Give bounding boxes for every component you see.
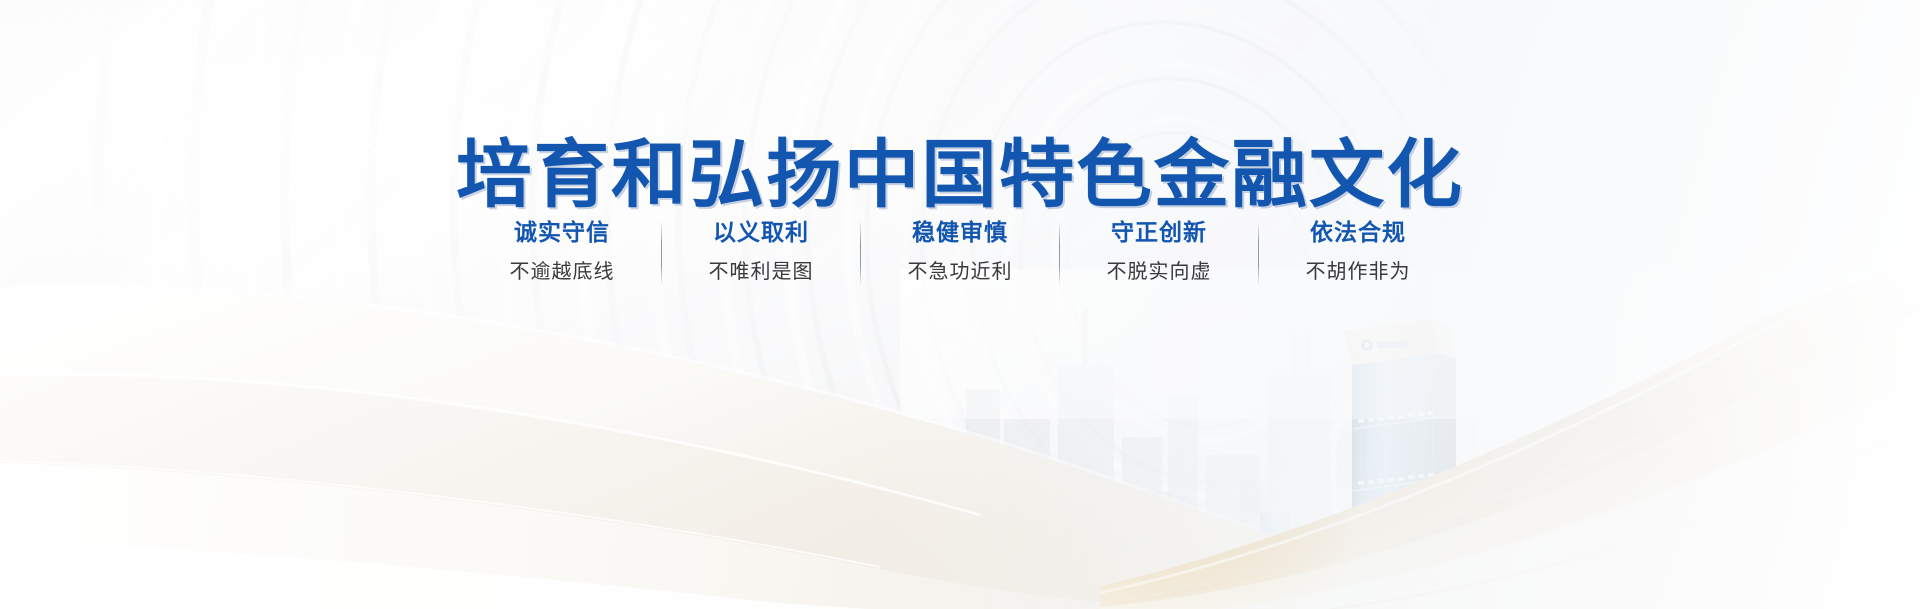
pillar-title: 诚实守信	[487, 218, 637, 247]
banner-content: 培育和弘扬中国特色金融文化 诚实守信 不逾越底线 以义取利 不唯利是图 稳健审慎…	[0, 0, 1920, 609]
pillar-subtitle: 不胡作非为	[1283, 259, 1433, 285]
banner-root: 培育和弘扬中国特色金融文化 诚实守信 不逾越底线 以义取利 不唯利是图 稳健审慎…	[0, 0, 1920, 609]
pillar-item-4: 守正创新 不脱实向虚	[1082, 218, 1236, 285]
page-title: 培育和弘扬中国特色金融文化	[0, 115, 1920, 222]
pillar-subtitle: 不急功近利	[885, 259, 1035, 285]
pillar-title: 以义取利	[686, 218, 836, 247]
pillar-subtitle: 不唯利是图	[686, 259, 836, 285]
pillar-title: 稳健审慎	[885, 218, 1035, 247]
pillar-item-5: 依法合规 不胡作非为	[1281, 218, 1435, 285]
pillar-divider	[860, 222, 861, 284]
pillar-item-2: 以义取利 不唯利是图	[684, 218, 838, 285]
pillar-title: 守正创新	[1084, 218, 1234, 247]
pillar-title: 依法合规	[1283, 218, 1433, 247]
pillar-divider	[1258, 222, 1259, 284]
pillar-divider	[661, 222, 662, 284]
pillar-item-3: 稳健审慎 不急功近利	[883, 218, 1037, 285]
pillar-subtitle: 不脱实向虚	[1084, 259, 1234, 285]
pillar-divider	[1059, 222, 1060, 284]
pillar-list: 诚实守信 不逾越底线 以义取利 不唯利是图 稳健审慎 不急功近利 守正创新 不脱…	[0, 218, 1920, 285]
pillar-item-1: 诚实守信 不逾越底线	[485, 218, 639, 285]
pillar-subtitle: 不逾越底线	[487, 259, 637, 285]
